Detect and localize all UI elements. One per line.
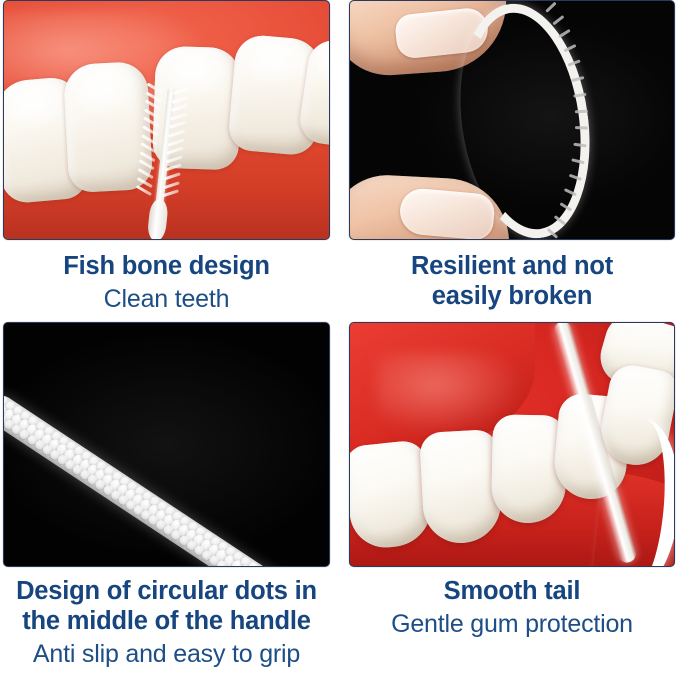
feature-caption-fish-bone-design: Fish bone design Clean teeth (3, 240, 330, 314)
feature-heading: Design of circular dots in the middle of… (3, 577, 330, 637)
feature-heading: Smooth tail (349, 577, 675, 607)
feature-subtitle: Anti slip and easy to grip (3, 639, 330, 669)
feature-subtitle: Clean teeth (3, 284, 330, 314)
feature-photo-resilient-not-broken (349, 0, 675, 240)
feature-cell-smooth-tail: Smooth tail Gentle gum protection (339, 322, 679, 681)
tooth-cusp-highlight (6, 86, 71, 133)
smooth-tail-illustration (350, 323, 674, 566)
tooth-cusp-highlight (245, 44, 312, 89)
feature-photo-smooth-tail (349, 322, 675, 567)
brush-grip (147, 198, 169, 240)
feature-heading: Fish bone design (3, 252, 330, 282)
bending-pick-illustration (350, 1, 674, 239)
pick-rib (546, 2, 557, 13)
dotted-handle-illustration (4, 323, 329, 566)
feature-photo-fish-bone-design (3, 0, 330, 240)
feature-photo-circular-dots-handle (3, 322, 330, 567)
feature-heading: Resilient and not easily broken (349, 252, 675, 312)
gum-brush-illustration (4, 1, 329, 239)
feature-caption-resilient-not-broken: Resilient and not easily broken (349, 240, 675, 314)
pick-rib (539, 239, 550, 240)
feature-cell-fish-bone-design: Fish bone design Clean teeth (0, 0, 339, 322)
feature-subtitle: Gentle gum protection (349, 609, 675, 639)
pick-rib (559, 29, 572, 38)
feature-cell-resilient-not-broken: Resilient and not easily broken (339, 0, 679, 322)
tooth-cusp-highlight (314, 47, 330, 88)
pick-rib (552, 15, 564, 25)
tooth-cusp-highlight (75, 72, 138, 119)
tooth (419, 429, 503, 545)
feature-caption-circular-dots-handle: Design of circular dots in the middle of… (3, 567, 330, 669)
product-feature-grid: Fish bone design Clean teeth Resilient a… (0, 0, 679, 681)
pick-arc-body (446, 0, 604, 240)
feature-cell-circular-dots-handle: Design of circular dots in the middle of… (0, 322, 339, 681)
feature-caption-smooth-tail: Smooth tail Gentle gum protection (349, 567, 675, 639)
bent-dental-pick (462, 3, 588, 239)
tooth (63, 61, 154, 193)
